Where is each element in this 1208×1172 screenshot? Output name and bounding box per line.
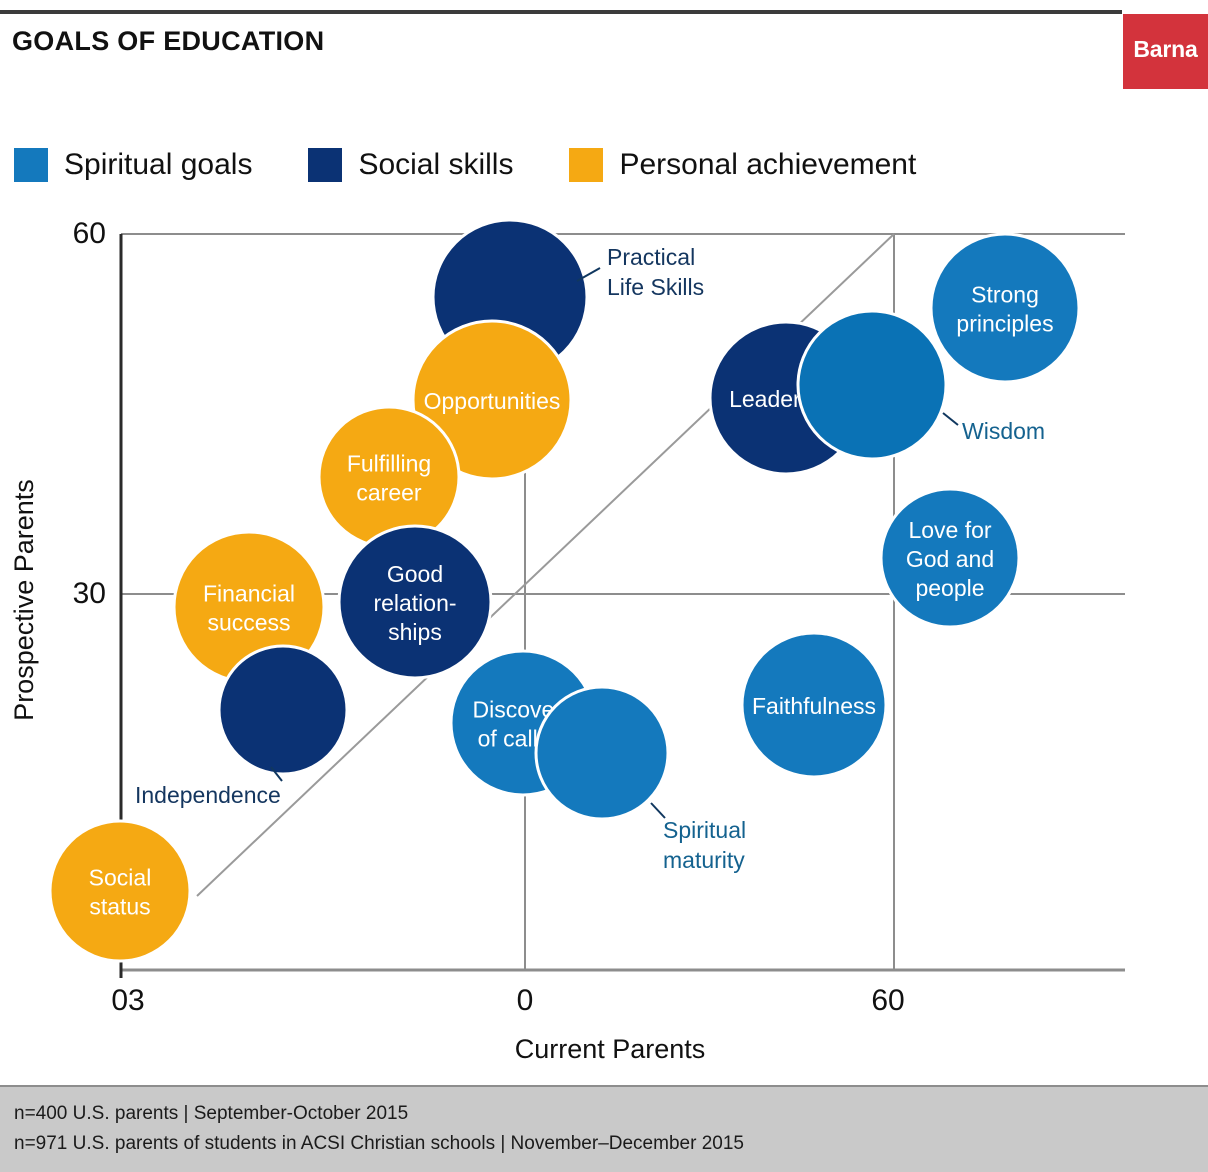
footnote-line-2: n=971 U.S. parents of students in ACSI C… bbox=[14, 1133, 744, 1155]
bubble-chart: PracticalLife SkillsOpportunitiesFulfill… bbox=[0, 0, 1208, 1085]
bubble-outside-label: Wisdom bbox=[962, 418, 1045, 444]
bubble-inside-label: Good bbox=[387, 561, 443, 587]
bubble-point[interactable]: Spiritualmaturity bbox=[536, 687, 746, 873]
x-tick-0: 0 bbox=[517, 984, 534, 1017]
bubble-inside-label: principles bbox=[956, 311, 1053, 337]
y-tick-30: 30 bbox=[73, 577, 106, 610]
bubble-point[interactable]: Faithfulness bbox=[742, 633, 886, 777]
bubble-point[interactable]: Fulfillingcareer bbox=[319, 407, 459, 547]
bubble-point[interactable]: Socialstatus bbox=[50, 821, 190, 961]
bubble-inside-label: career bbox=[356, 480, 422, 506]
bubble-inside-label: Social bbox=[89, 865, 152, 891]
x-tick-03: 03 bbox=[111, 984, 144, 1017]
bubble-circle[interactable] bbox=[219, 646, 347, 774]
bubble-point[interactable]: Strongprinciples bbox=[931, 234, 1079, 382]
bubble-circle[interactable] bbox=[319, 407, 459, 547]
bubble-inside-label: Fulfilling bbox=[347, 451, 431, 477]
bubble-outside-label: maturity bbox=[663, 847, 745, 873]
footnote-line-1: n=400 U.S. parents | September-October 2… bbox=[14, 1103, 408, 1125]
bubble-outside-label: Spiritual bbox=[663, 817, 746, 843]
bubble-inside-label: Love for bbox=[908, 517, 991, 543]
bubble-inside-label: God and bbox=[906, 546, 994, 572]
bubble-inside-label: relation- bbox=[373, 590, 456, 616]
bubble-outside-label: Independence bbox=[135, 782, 281, 808]
x-axis-title: Current Parents bbox=[515, 1034, 706, 1064]
bubble-circle[interactable] bbox=[931, 234, 1079, 382]
bubble-point[interactable]: Goodrelation-ships bbox=[339, 526, 491, 678]
bubble-outside-label: Practical bbox=[607, 244, 695, 270]
bubble-inside-label: ships bbox=[388, 619, 442, 645]
chart-footnote: n=400 U.S. parents | September-October 2… bbox=[0, 1085, 1208, 1172]
y-axis-title: Prospective Parents bbox=[9, 479, 39, 721]
chart-svg: PracticalLife SkillsOpportunitiesFulfill… bbox=[0, 0, 1208, 1085]
infographic-root: GOALS OF EDUCATION Barna Spiritual goals… bbox=[0, 0, 1208, 1172]
bubble-inside-label: status bbox=[89, 894, 150, 920]
bubble-inside-label: success bbox=[207, 610, 290, 636]
bubble-circle[interactable] bbox=[536, 687, 668, 819]
bubble-circle[interactable] bbox=[50, 821, 190, 961]
bubble-leader-line bbox=[943, 413, 958, 425]
bubble-outside-label: Life Skills bbox=[607, 274, 704, 300]
y-tick-60: 60 bbox=[73, 217, 106, 250]
bubble-layer: PracticalLife SkillsOpportunitiesFulfill… bbox=[50, 220, 1079, 961]
bubble-leader-line bbox=[651, 803, 665, 818]
bubble-inside-label: Opportunities bbox=[424, 388, 561, 414]
bubble-inside-label: Strong bbox=[971, 282, 1039, 308]
bubble-inside-label: Faithfulness bbox=[752, 693, 876, 719]
x-tick-60: 60 bbox=[871, 984, 904, 1017]
bubble-point[interactable]: Love forGod andpeople bbox=[881, 489, 1019, 627]
bubble-circle[interactable] bbox=[798, 311, 946, 459]
bubble-inside-label: Financial bbox=[203, 581, 295, 607]
bubble-inside-label: people bbox=[915, 575, 984, 601]
